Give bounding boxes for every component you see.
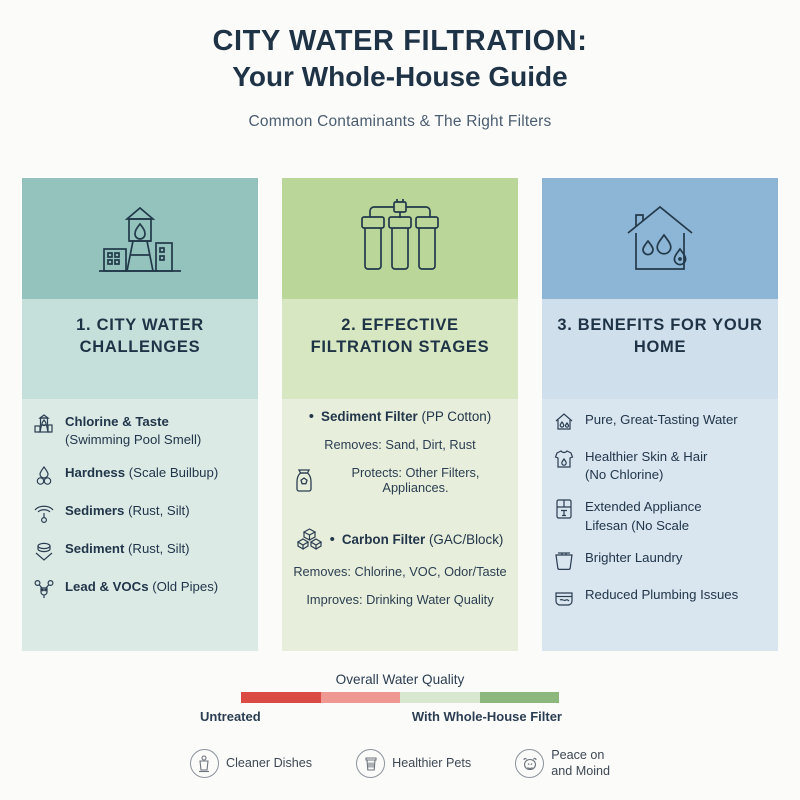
stage-detail: Removes: Sand, Dirt, Rust <box>292 437 508 452</box>
triple-filter-housing-icon <box>282 178 518 299</box>
list-item-label: Pure, Great-Tasting Water <box>585 409 738 429</box>
footer-benefits: Cleaner Dishes Healthier Pets Peace onan… <box>0 748 800 779</box>
filter-bag-icon <box>292 467 316 493</box>
laundry-basket-icon <box>552 548 576 572</box>
card-1-body: Chlorine & Taste(Swimming Pool Smell) Ha… <box>22 399 258 651</box>
card-3-body: Pure, Great-Tasting Water Healthier Skin… <box>542 399 778 651</box>
lead-pipe-icon <box>32 577 56 601</box>
quality-segment-1 <box>241 692 321 703</box>
footer-item-peace-of-mind: Peace onand Moind <box>515 748 610 779</box>
card-2-body: • Sediment Filter (PP Cotton) Removes: S… <box>282 399 518 651</box>
page-title-line1: CITY WATER FILTRATION: <box>0 24 800 58</box>
bullet-icon: • <box>330 532 335 547</box>
bullet-icon: • <box>309 409 314 424</box>
columns-container: 1. CITY WATER CHALLENGES Chlorine & Tast… <box>22 178 778 651</box>
footer-item-cleaner-dishes: Cleaner Dishes <box>190 749 312 778</box>
list-item-label: Hardness (Scale Builbup) <box>65 462 218 482</box>
quality-gradient-bar <box>241 692 559 703</box>
hardness-drop-icon <box>32 463 56 487</box>
footer-item-label: Peace onand Moind <box>551 748 610 779</box>
stage-title-label: Sediment Filter (PP Cotton) <box>321 409 491 424</box>
appliance-icon <box>552 497 576 521</box>
stage-detail: Protects: Other Filters, Appliances. <box>292 465 508 495</box>
list-item: Chlorine & Taste(Swimming Pool Smell) <box>32 411 248 449</box>
quality-segment-4 <box>480 692 560 703</box>
page-subtitle: Common Contaminants & The Right Filters <box>0 113 800 131</box>
footer-item-label: Healthier Pets <box>392 756 471 772</box>
list-item: Brighter Laundry <box>552 547 768 572</box>
list-item-label: Lead & VOCs (Old Pipes) <box>65 576 218 596</box>
water-tower-icon <box>22 178 258 299</box>
list-item-label: Sediment (Rust, Silt) <box>65 538 190 558</box>
stage-carbon-filter: • Carbon Filter (GAC/Block) Removes: Chl… <box>292 527 508 607</box>
list-item-label: Extended ApplianceLifesan (No Scale <box>585 496 702 534</box>
list-item-label: Healthier Skin & Hair(No Chlorine) <box>585 446 707 484</box>
stage-title-label: Carbon Filter (GAC/Block) <box>342 532 503 547</box>
stage-detail: Improves: Drinking Water Quality <box>292 592 508 607</box>
footer-item-label: Cleaner Dishes <box>226 756 312 772</box>
stage-title: • Carbon Filter (GAC/Block) <box>292 527 508 551</box>
list-item-label: Brighter Laundry <box>585 547 683 567</box>
list-item: Sedimers (Rust, Silt) <box>32 500 248 525</box>
stage-detail-label: Protects: Other Filters, Appliances. <box>323 465 508 495</box>
overall-water-quality-section: Overall Water Quality Untreated With Who… <box>0 672 800 724</box>
plumbing-pipe-icon <box>552 585 576 609</box>
quality-legend-filtered: With Whole-House Filter <box>412 709 562 724</box>
list-item-label: Reduced Plumbing Issues <box>585 584 738 604</box>
list-item-label: Sedimers (Rust, Silt) <box>65 500 190 520</box>
stage-title: • Sediment Filter (PP Cotton) <box>292 409 508 424</box>
house-drop-icon <box>552 410 576 434</box>
list-item: Hardness (Scale Builbup) <box>32 462 248 487</box>
sediment-faucet-icon <box>32 501 56 525</box>
card-benefits-for-your-home: 3. BENEFITS FOR YOUR HOME Pure, Great-Ta… <box>542 178 778 651</box>
quality-bar-title: Overall Water Quality <box>0 672 800 687</box>
quality-bar-legend: Untreated With Whole-House Filter <box>200 709 600 724</box>
footer-item-healthier-pets: Healthier Pets <box>356 749 471 778</box>
card-city-water-challenges: 1. CITY WATER CHALLENGES Chlorine & Tast… <box>22 178 258 651</box>
page-title-line2: Your Whole-House Guide <box>0 59 800 95</box>
card-2-heading: 2. EFFECTIVE FILTRATION STAGES <box>282 299 518 399</box>
quality-segment-3 <box>400 692 480 703</box>
sediment-layers-icon <box>32 539 56 563</box>
list-item: Reduced Plumbing Issues <box>552 584 768 609</box>
list-item: Pure, Great-Tasting Water <box>552 409 768 434</box>
stage-detail: Removes: Chlorine, VOC, Odor/Taste <box>292 564 508 579</box>
list-item: Extended ApplianceLifesan (No Scale <box>552 496 768 534</box>
stage-spacer <box>292 495 508 525</box>
pet-bowl-icon <box>356 749 385 778</box>
card-effective-filtration-stages: 2. EFFECTIVE FILTRATION STAGES • Sedimen… <box>282 178 518 651</box>
list-item: Lead & VOCs (Old Pipes) <box>32 576 248 601</box>
drinking-glass-icon <box>190 749 219 778</box>
infographic-header: CITY WATER FILTRATION: Your Whole-House … <box>0 0 800 131</box>
shirt-drop-icon <box>552 447 576 471</box>
carbon-blocks-icon <box>297 527 323 551</box>
quality-segment-2 <box>321 692 401 703</box>
house-water-drops-icon <box>542 178 778 299</box>
list-item: Sediment (Rust, Silt) <box>32 538 248 563</box>
quality-legend-untreated: Untreated <box>200 709 261 724</box>
water-tower-icon <box>32 412 56 436</box>
card-1-heading: 1. CITY WATER CHALLENGES <box>22 299 258 399</box>
smiley-face-icon <box>515 749 544 778</box>
card-3-heading: 3. BENEFITS FOR YOUR HOME <box>542 299 778 399</box>
list-item: Healthier Skin & Hair(No Chlorine) <box>552 446 768 484</box>
list-item-label: Chlorine & Taste(Swimming Pool Smell) <box>65 411 201 449</box>
stage-sediment-filter: • Sediment Filter (PP Cotton) Removes: S… <box>292 409 508 495</box>
